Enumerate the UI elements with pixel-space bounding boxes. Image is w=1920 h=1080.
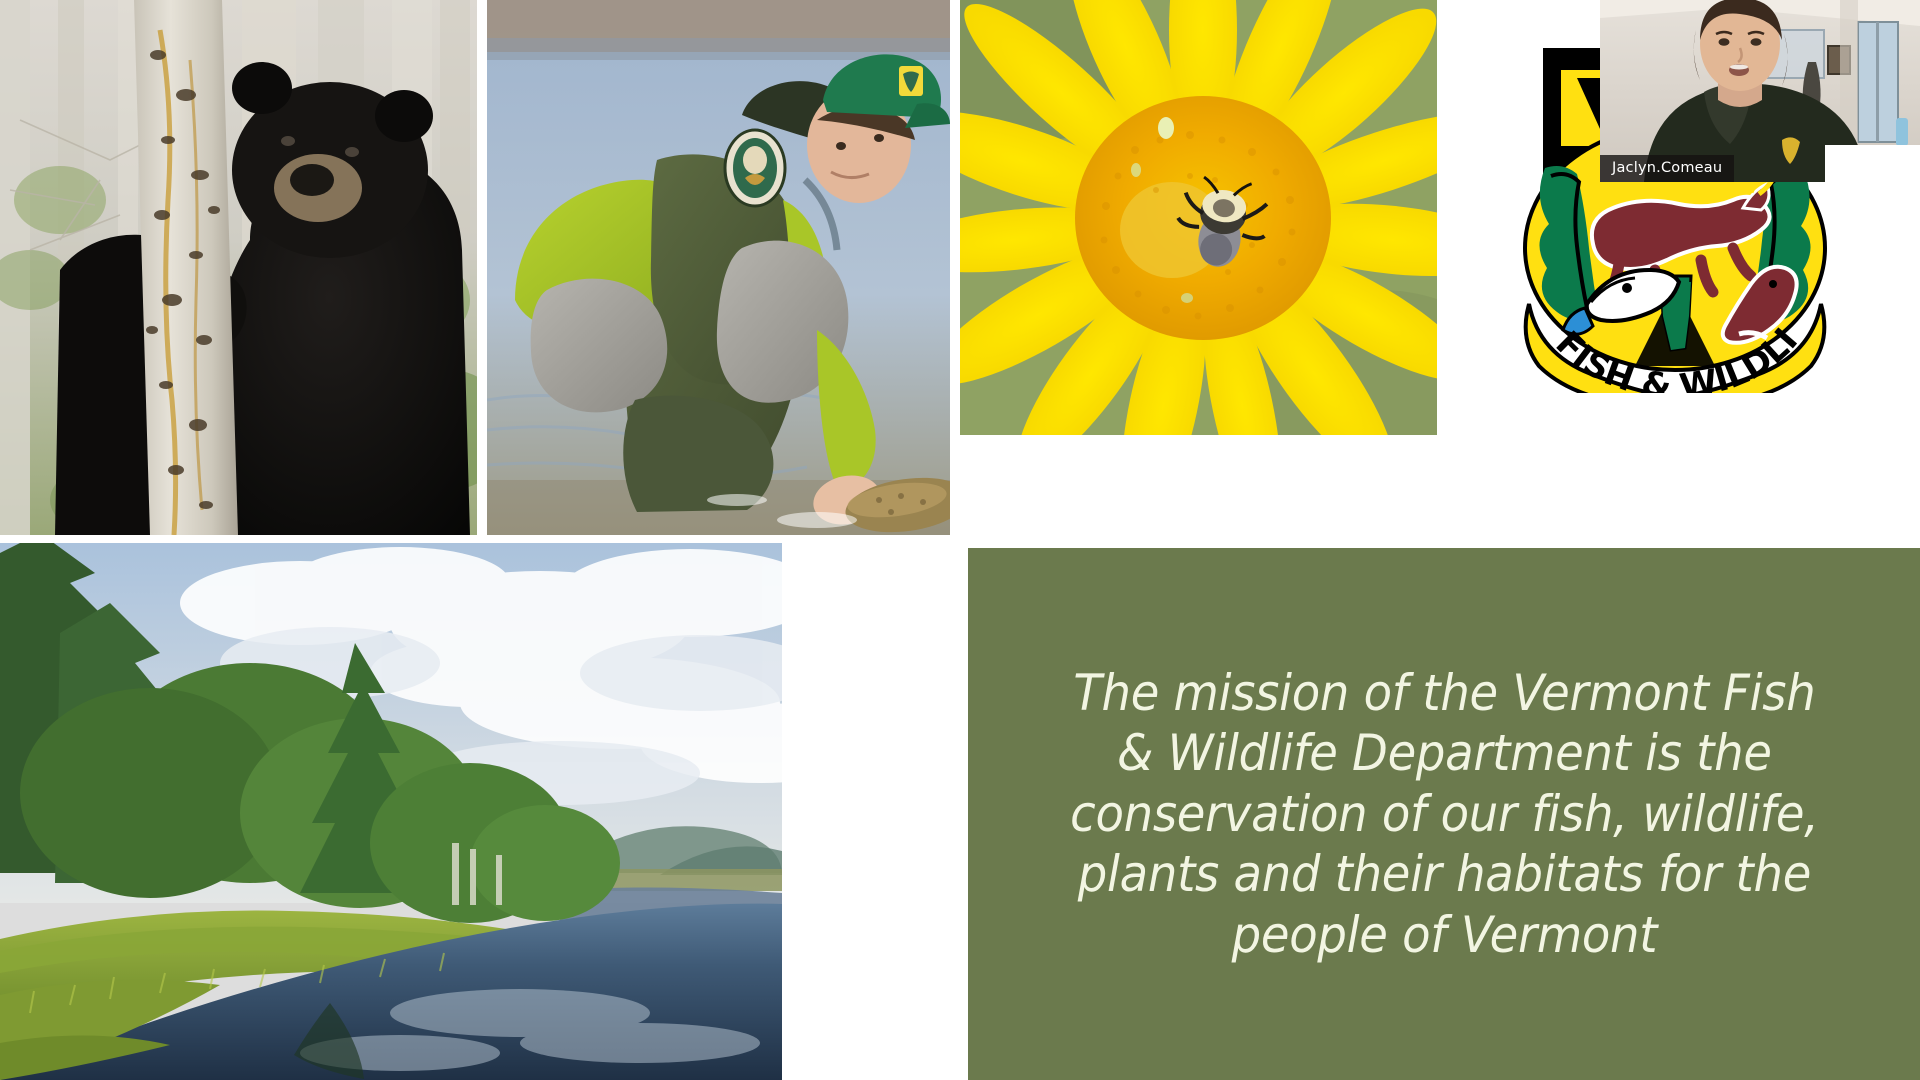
photo-black-bear — [0, 0, 477, 535]
photo-biologist-fish-release — [487, 0, 950, 535]
mission-statement-text: The mission of the Vermont Fish& Wildlif… — [1016, 663, 1872, 966]
photo-river-wetland — [0, 543, 782, 1080]
presentation-slide: The mission of the Vermont Fish& Wildlif… — [0, 0, 1920, 1080]
mission-line: plants and their habitats for the — [1077, 845, 1810, 903]
participant-name-badge: Jaclyn.Comeau — [1600, 155, 1734, 182]
mission-line: conservation of our fish, wildlife, — [1070, 785, 1819, 843]
video-tile-white-filler — [1825, 145, 1920, 190]
mission-line: & Wildlife Department is the — [1117, 724, 1772, 782]
photo-bumblebee-sunflower — [960, 0, 1437, 435]
mission-line: The mission of the Vermont Fish — [1073, 664, 1815, 722]
mission-line: people of Vermont — [1231, 906, 1657, 964]
mission-statement-panel: The mission of the Vermont Fish& Wildlif… — [968, 548, 1920, 1080]
